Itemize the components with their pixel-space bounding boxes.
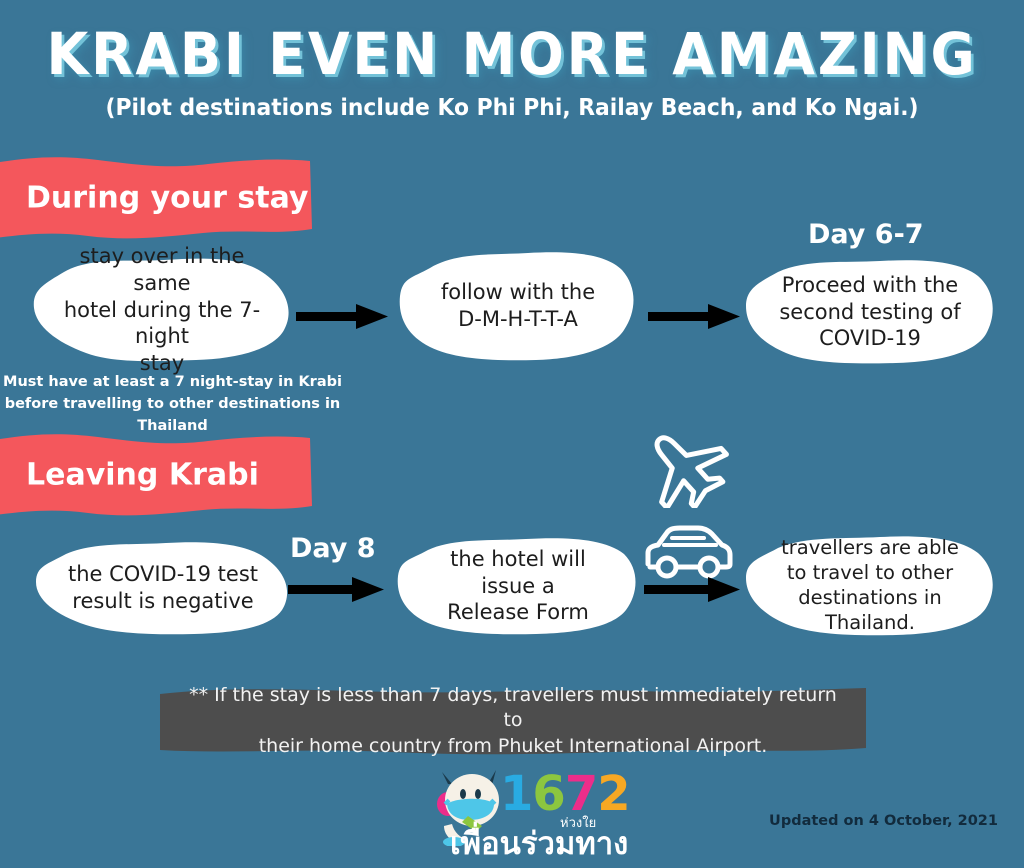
logo-digits: 1 6 7 2: [500, 770, 630, 818]
note-text: ** If the stay is less than 7 days, trav…: [160, 686, 866, 756]
logo-digit-6: 6: [532, 770, 564, 818]
step-text: follow with the D-M-H-T-T-A: [415, 279, 621, 333]
page-title: KRABI EVEN MORE AMAZING: [36, 24, 988, 85]
arrow-step4-to-step5: [288, 575, 384, 603]
step-bubble-follow-dmhtta: follow with the D-M-H-T-T-A: [398, 250, 638, 362]
section-banner-leaving-krabi: Leaving Krabi: [0, 432, 313, 518]
step-text: stay over in the same hotel during the 7…: [30, 243, 294, 377]
infographic-page: { "theme": { "background": "#3a7697", "r…: [0, 0, 1024, 858]
arrow-icon: [288, 575, 384, 603]
day-label-day-8: Day 8: [290, 533, 376, 564]
car-icon: [642, 524, 734, 580]
arrow-icon: [644, 575, 740, 603]
logo-tagline: เพื่อนร่วมทาง: [450, 818, 628, 868]
arrow-step2-to-step3: [648, 302, 740, 330]
step-text: Proceed with the second testing of COVID…: [753, 272, 986, 353]
airplane-icon: [638, 426, 730, 508]
arrow-icon: [648, 302, 740, 330]
step-bubble-release-form: the hotel will issue a Release Form: [396, 536, 640, 636]
step-bubble-stay-same-hotel: stay over in the same hotel during the 7…: [30, 256, 294, 364]
arrow-step5-to-step6: [644, 575, 740, 603]
arrow-step1-to-step2: [296, 302, 388, 330]
logo-digit-1: 1: [500, 770, 532, 818]
banner-label-leaving-krabi: Leaving Krabi: [26, 458, 259, 493]
section-banner-during-your-stay: During your stay: [0, 155, 313, 241]
day-label-day-6-7: Day 6-7: [808, 219, 924, 250]
step-text: travellers are able to travel to other d…: [742, 536, 998, 636]
logo-digit-2: 2: [597, 770, 629, 818]
page-subtitle: (Pilot destinations include Ko Phi Phi, …: [26, 95, 999, 121]
page-header: KRABI EVEN MORE AMAZING (Pilot destinati…: [0, 24, 1024, 121]
step-bubble-second-testing: Proceed with the second testing of COVID…: [744, 258, 996, 366]
step-text: the hotel will issue a Release Form: [396, 546, 640, 627]
arrow-icon: [296, 302, 388, 330]
logo-digit-7: 7: [565, 770, 597, 818]
step-text: the COVID-19 test result is negative: [42, 561, 284, 615]
banner-label-during-your-stay: During your stay: [26, 181, 308, 216]
step-bubble-test-negative: the COVID-19 test result is negative: [32, 540, 294, 636]
fineprint-during-your-stay: Must have at least a 7 night-stay in Kra…: [0, 372, 345, 437]
step-bubble-travel-other-destinations: travellers are able to travel to other d…: [742, 534, 998, 638]
updated-date: Updated on 4 October, 2021: [769, 813, 998, 829]
logo-1672: 1 6 7 2 ห่วงใย เพื่อนร่วมทาง: [432, 768, 632, 856]
footer-note-box: ** If the stay is less than 7 days, trav…: [160, 686, 866, 756]
